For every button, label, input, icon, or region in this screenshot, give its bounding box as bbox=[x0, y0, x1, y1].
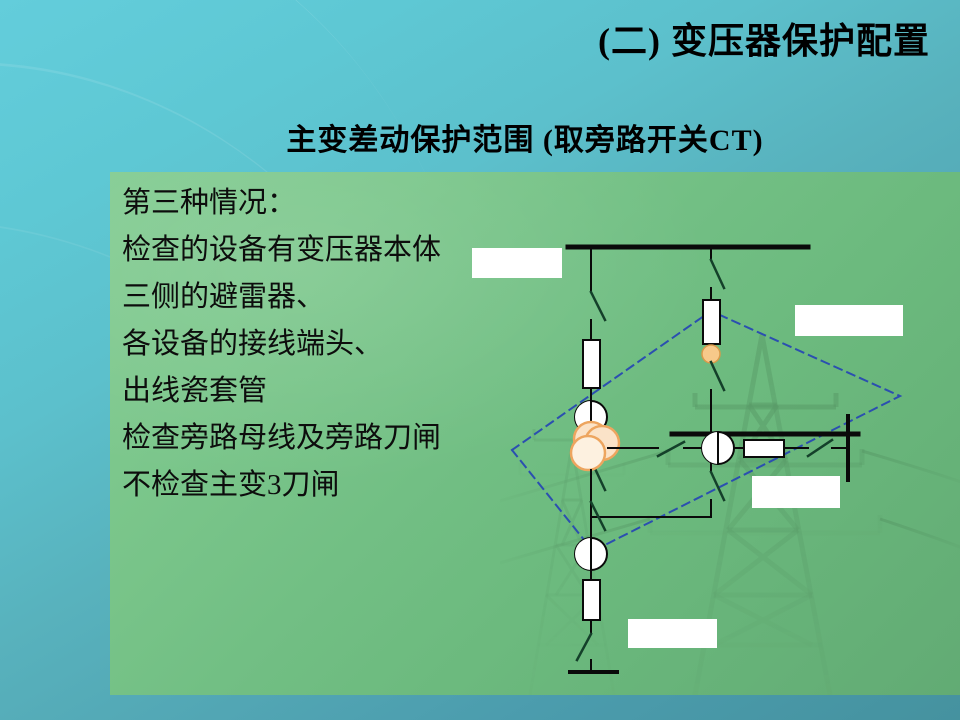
content-panel: 第三种情况： 检查的设备有变压器本体 三侧的避雷器、 各设备的接线端头、 出线瓷… bbox=[110, 172, 960, 695]
panel-body-text: 第三种情况： 检查的设备有变压器本体 三侧的避雷器、 各设备的接线端头、 出线瓷… bbox=[122, 180, 592, 509]
disconnector-bottom-low bbox=[577, 634, 591, 660]
disconnector-bypass-mid bbox=[711, 362, 724, 390]
panel-line-1: 第三种情况： bbox=[122, 180, 592, 227]
slide-canvas: (二) 变压器保护配置 主变差动保护范围 (取旁路开关CT) bbox=[0, 0, 960, 720]
panel-line-6: 检查旁路母线及旁路刀闸 bbox=[122, 415, 592, 462]
ct-bypass bbox=[703, 300, 720, 344]
panel-line-3: 三侧的避雷器、 bbox=[122, 274, 592, 321]
blank-label-mid-right bbox=[752, 476, 840, 508]
ct-branch-right bbox=[744, 440, 784, 457]
disconnector-branch-right bbox=[658, 442, 684, 456]
slide-subtitle: 主变差动保护范围 (取旁路开关CT) bbox=[0, 115, 960, 159]
disconnector-branch-far-right bbox=[808, 440, 832, 456]
connection-node-bypass bbox=[702, 345, 720, 363]
disconnector-left-upper bbox=[591, 292, 605, 320]
ct-bottom bbox=[583, 580, 600, 620]
panel-line-7: 不检查主变3刀闸 bbox=[122, 462, 592, 509]
disconnector-bypass-upper bbox=[711, 260, 724, 288]
slide-title: (二) 变压器保护配置 bbox=[0, 12, 930, 64]
blank-label-upper-right bbox=[795, 305, 903, 336]
blank-label-over-line2 bbox=[472, 248, 562, 278]
panel-line-4: 各设备的接线端头、 bbox=[122, 321, 592, 368]
panel-line-5: 出线瓷套管 bbox=[122, 368, 592, 415]
blank-label-bottom bbox=[628, 619, 717, 648]
